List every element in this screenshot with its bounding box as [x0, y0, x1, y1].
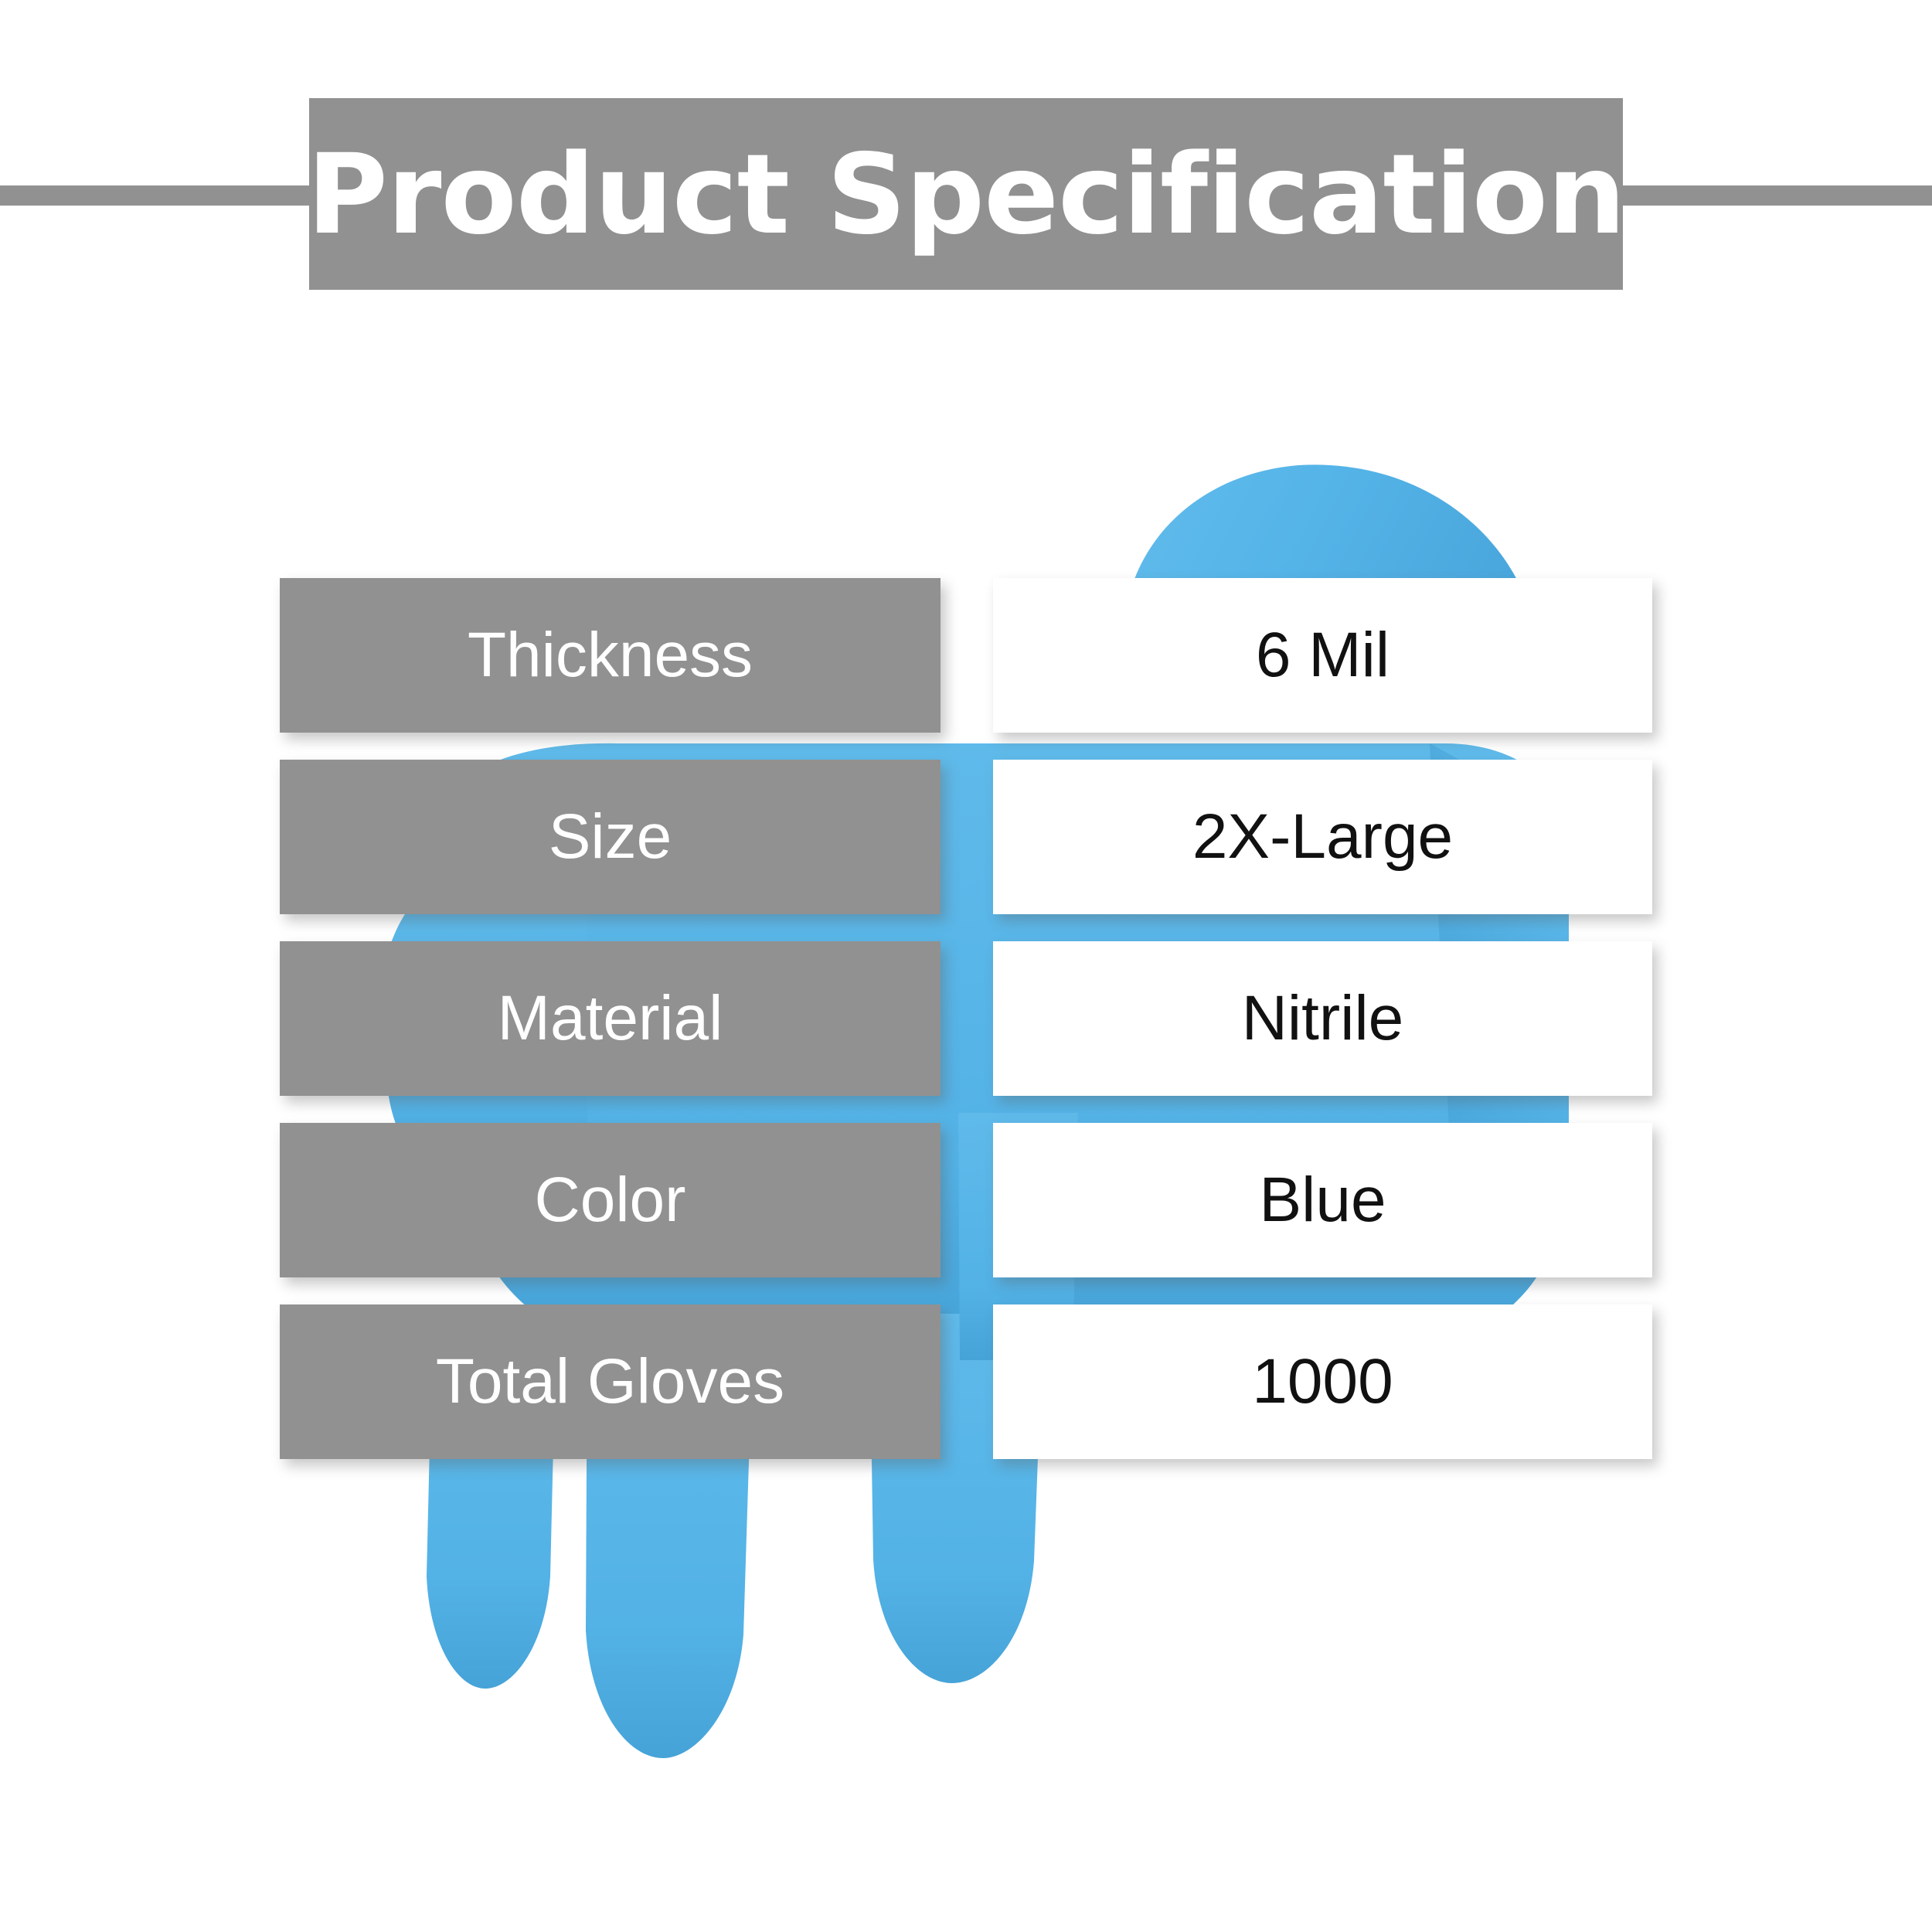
spec-value-text: 2X-Large: [1192, 805, 1453, 869]
spec-value-text: Nitrile: [1242, 987, 1404, 1050]
spec-value-text: Blue: [1259, 1168, 1386, 1232]
spec-label-text: Size: [549, 805, 672, 869]
table-row: Total Gloves 1000: [280, 1304, 1652, 1459]
spec-label-cell: Size: [280, 760, 940, 914]
spec-label-text: Color: [535, 1168, 686, 1232]
page-title: Product Specification: [307, 139, 1625, 250]
spec-value-cell: Blue: [993, 1123, 1652, 1277]
spec-value-cell: Nitrile: [993, 941, 1652, 1096]
spec-label-cell: Total Gloves: [280, 1304, 940, 1459]
spec-label-text: Material: [498, 987, 723, 1050]
specification-table: Thickness 6 Mil Size 2X-Large Material N…: [280, 578, 1652, 1770]
title-banner: Product Specification: [309, 98, 1623, 290]
spec-label-text: Thickness: [468, 624, 753, 687]
spec-value-cell: 1000: [993, 1304, 1652, 1459]
spec-value-text: 6 Mil: [1256, 624, 1389, 687]
table-row: Color Blue: [280, 1123, 1652, 1277]
spec-label-text: Total Gloves: [436, 1350, 784, 1413]
spec-label-cell: Material: [280, 941, 940, 1096]
spec-label-cell: Thickness: [280, 578, 940, 733]
product-specification-infographic: Product Specification Thickness 6 Mil Si…: [0, 0, 1932, 1932]
table-row: Size 2X-Large: [280, 760, 1652, 914]
spec-value-cell: 2X-Large: [993, 760, 1652, 914]
table-row: Thickness 6 Mil: [280, 578, 1652, 733]
spec-value-cell: 6 Mil: [993, 578, 1652, 733]
spec-label-cell: Color: [280, 1123, 940, 1277]
table-row: Material Nitrile: [280, 941, 1652, 1096]
spec-value-text: 1000: [1252, 1350, 1393, 1413]
